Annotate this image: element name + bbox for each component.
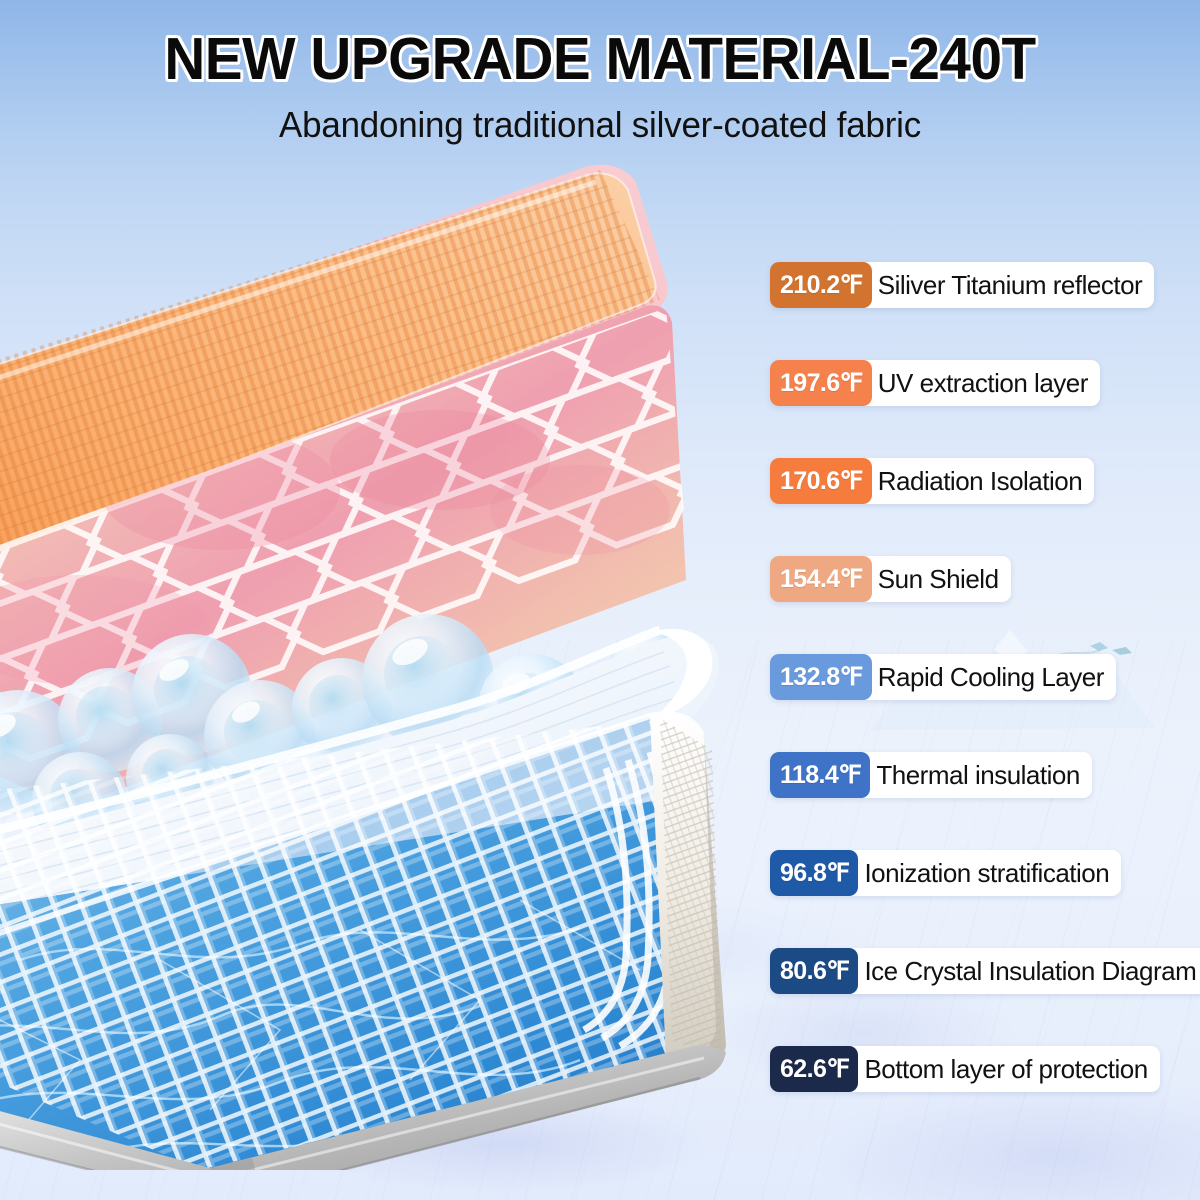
layer-name-text: Thermal insulation bbox=[870, 752, 1091, 798]
layer-temperature-badge: 132.8℉ bbox=[770, 654, 872, 700]
layer-label-row[interactable]: 132.8℉ Rapid Cooling Layer bbox=[770, 654, 1116, 700]
layer-label-row[interactable]: 118.4℉ Thermal insulation bbox=[770, 752, 1092, 798]
layer-temperature-badge: 96.8℉ bbox=[770, 850, 858, 896]
layer-name-text: Radiation Isolation bbox=[872, 458, 1094, 504]
layer-name-text: Ionization stratification bbox=[858, 850, 1121, 896]
layer-temperature-badge: 210.2℉ bbox=[770, 262, 872, 308]
infographic-canvas: NEW UPGRADE MATERIAL-240T Abandoning tra… bbox=[0, 0, 1200, 1200]
layer-temperature-badge: 118.4℉ bbox=[770, 752, 870, 798]
layer-label-row[interactable]: 96.8℉ Ionization stratification bbox=[770, 850, 1121, 896]
layer-temperature-badge: 197.6℉ bbox=[770, 360, 872, 406]
layer-label-row[interactable]: 62.6℉ Bottom layer of protection bbox=[770, 1046, 1160, 1092]
layer-label-row[interactable]: 210.2℉ Siliver Titanium reflector bbox=[770, 262, 1154, 308]
page-title: NEW UPGRADE MATERIAL-240T bbox=[24, 28, 1176, 91]
layer-name-text: Bottom layer of protection bbox=[858, 1046, 1159, 1092]
layer-name-text: UV extraction layer bbox=[872, 360, 1100, 406]
layer-name-text: Sun Shield bbox=[872, 556, 1011, 602]
layer-label-row[interactable]: 197.6℉ UV extraction layer bbox=[770, 360, 1100, 406]
layer-label-row[interactable]: 80.6℉ Ice Crystal Insulation Diagram bbox=[770, 948, 1200, 994]
fabric-layer-illustration bbox=[0, 160, 770, 1170]
layer-temperature-badge: 154.4℉ bbox=[770, 556, 872, 602]
layer-label-row[interactable]: 154.4℉ Sun Shield bbox=[770, 556, 1011, 602]
layer-label-row[interactable]: 170.6℉ Radiation Isolation bbox=[770, 458, 1094, 504]
layer-temperature-badge: 62.6℉ bbox=[770, 1046, 858, 1092]
layer-name-text: Rapid Cooling Layer bbox=[872, 654, 1116, 700]
layer-temperature-badge: 170.6℉ bbox=[770, 458, 872, 504]
layer-temperature-badge: 80.6℉ bbox=[770, 948, 858, 994]
layer-name-text: Siliver Titanium reflector bbox=[872, 262, 1154, 308]
page-subtitle: Abandoning traditional silver-coated fab… bbox=[18, 104, 1182, 146]
header-block: NEW UPGRADE MATERIAL-240T Abandoning tra… bbox=[0, 28, 1200, 146]
layer-name-text: Ice Crystal Insulation Diagram bbox=[858, 948, 1200, 994]
